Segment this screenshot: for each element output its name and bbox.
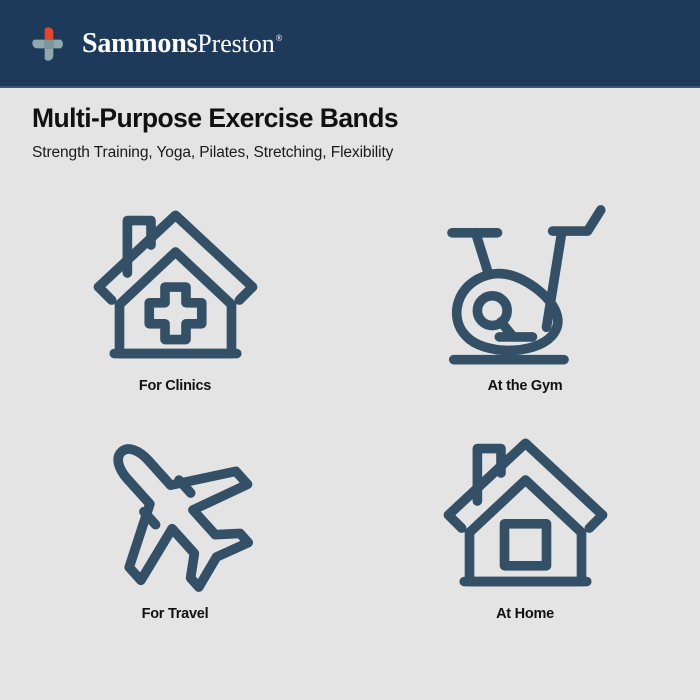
home-house-icon [438, 424, 613, 599]
brand-word-secondary: Preston [197, 29, 274, 59]
brand-wordmark: Sammons Preston ® [82, 28, 282, 60]
product-feature-banner: Sammons Preston ® Multi-Purpose Exercise… [0, 0, 700, 700]
registered-trademark-symbol: ® [276, 33, 283, 43]
use-case-label-travel: For Travel [142, 606, 209, 622]
title-block: Multi-Purpose Exercise Bands Strength Tr… [32, 104, 672, 162]
clinic-house-icon-holder [88, 196, 263, 371]
use-case-cell-gym: At the Gym [350, 196, 700, 424]
page-subtitle: Strength Training, Yoga, Pilates, Stretc… [32, 144, 672, 163]
exercise-bike-icon-holder [438, 196, 613, 371]
airplane-icon-holder [88, 424, 263, 599]
brand-logo[interactable]: Sammons Preston ® [31, 26, 282, 62]
use-case-label-clinics: For Clinics [139, 378, 211, 394]
sammons-preston-cross-logo-icon [31, 26, 67, 62]
use-case-label-home: At Home [496, 606, 554, 622]
brand-word-primary: Sammons [82, 28, 197, 60]
use-case-label-gym: At the Gym [488, 378, 563, 394]
airplane-icon [88, 424, 263, 599]
home-house-icon-holder [438, 424, 613, 599]
clinic-house-icon [88, 196, 263, 371]
use-case-grid: For Clinics [0, 196, 700, 652]
page-title: Multi-Purpose Exercise Bands [32, 104, 672, 134]
use-case-cell-travel: For Travel [0, 424, 350, 652]
exercise-bike-icon [438, 196, 613, 371]
use-case-cell-clinics: For Clinics [0, 196, 350, 424]
use-case-cell-home: At Home [350, 424, 700, 652]
brand-header: Sammons Preston ® [0, 0, 700, 88]
